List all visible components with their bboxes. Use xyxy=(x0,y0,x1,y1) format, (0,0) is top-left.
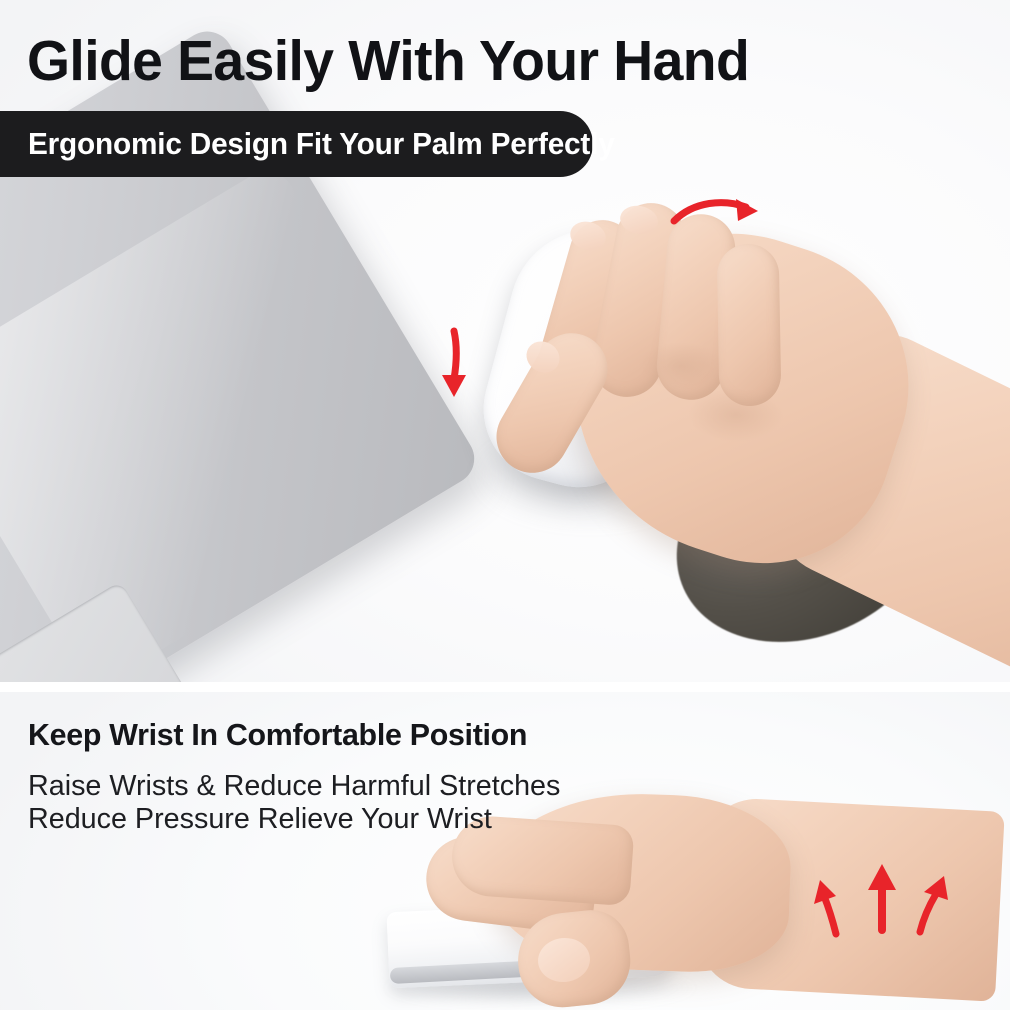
ergonomic-banner-label: Ergonomic Design Fit Your Palm Perfectly xyxy=(28,111,615,177)
product-feature-image: Backspace Enter Shift PgUp PgDn xyxy=(0,0,1010,1010)
bottom-body-line-1: Raise Wrists & Reduce Harmful Stretches xyxy=(28,770,560,803)
bottom-headline: Keep Wrist In Comfortable Position xyxy=(28,717,527,753)
knuckle-shading-1 xyxy=(638,342,724,390)
wrist-lift-arrow-left xyxy=(812,876,856,938)
hand-on-mouse xyxy=(520,200,1010,682)
bottom-body-text: Raise Wrists & Reduce Harmful Stretches … xyxy=(28,770,560,836)
wrist-lift-arrow-right xyxy=(906,872,952,936)
top-feature-panel: Backspace Enter Shift PgUp PgDn xyxy=(0,0,1010,682)
knuckle-shading-2 xyxy=(688,388,784,442)
glide-right-arrow xyxy=(670,195,766,235)
section-divider xyxy=(0,682,1010,692)
pinky-finger xyxy=(717,243,782,406)
ergonomic-banner: Ergonomic Design Fit Your Palm Perfectly xyxy=(0,111,593,177)
glide-down-arrow xyxy=(432,325,480,403)
bottom-body-line-2: Reduce Pressure Relieve Your Wrist xyxy=(28,803,560,836)
page-title: Glide Easily With Your Hand xyxy=(27,28,749,94)
wrist-lift-arrow-center xyxy=(862,862,902,934)
